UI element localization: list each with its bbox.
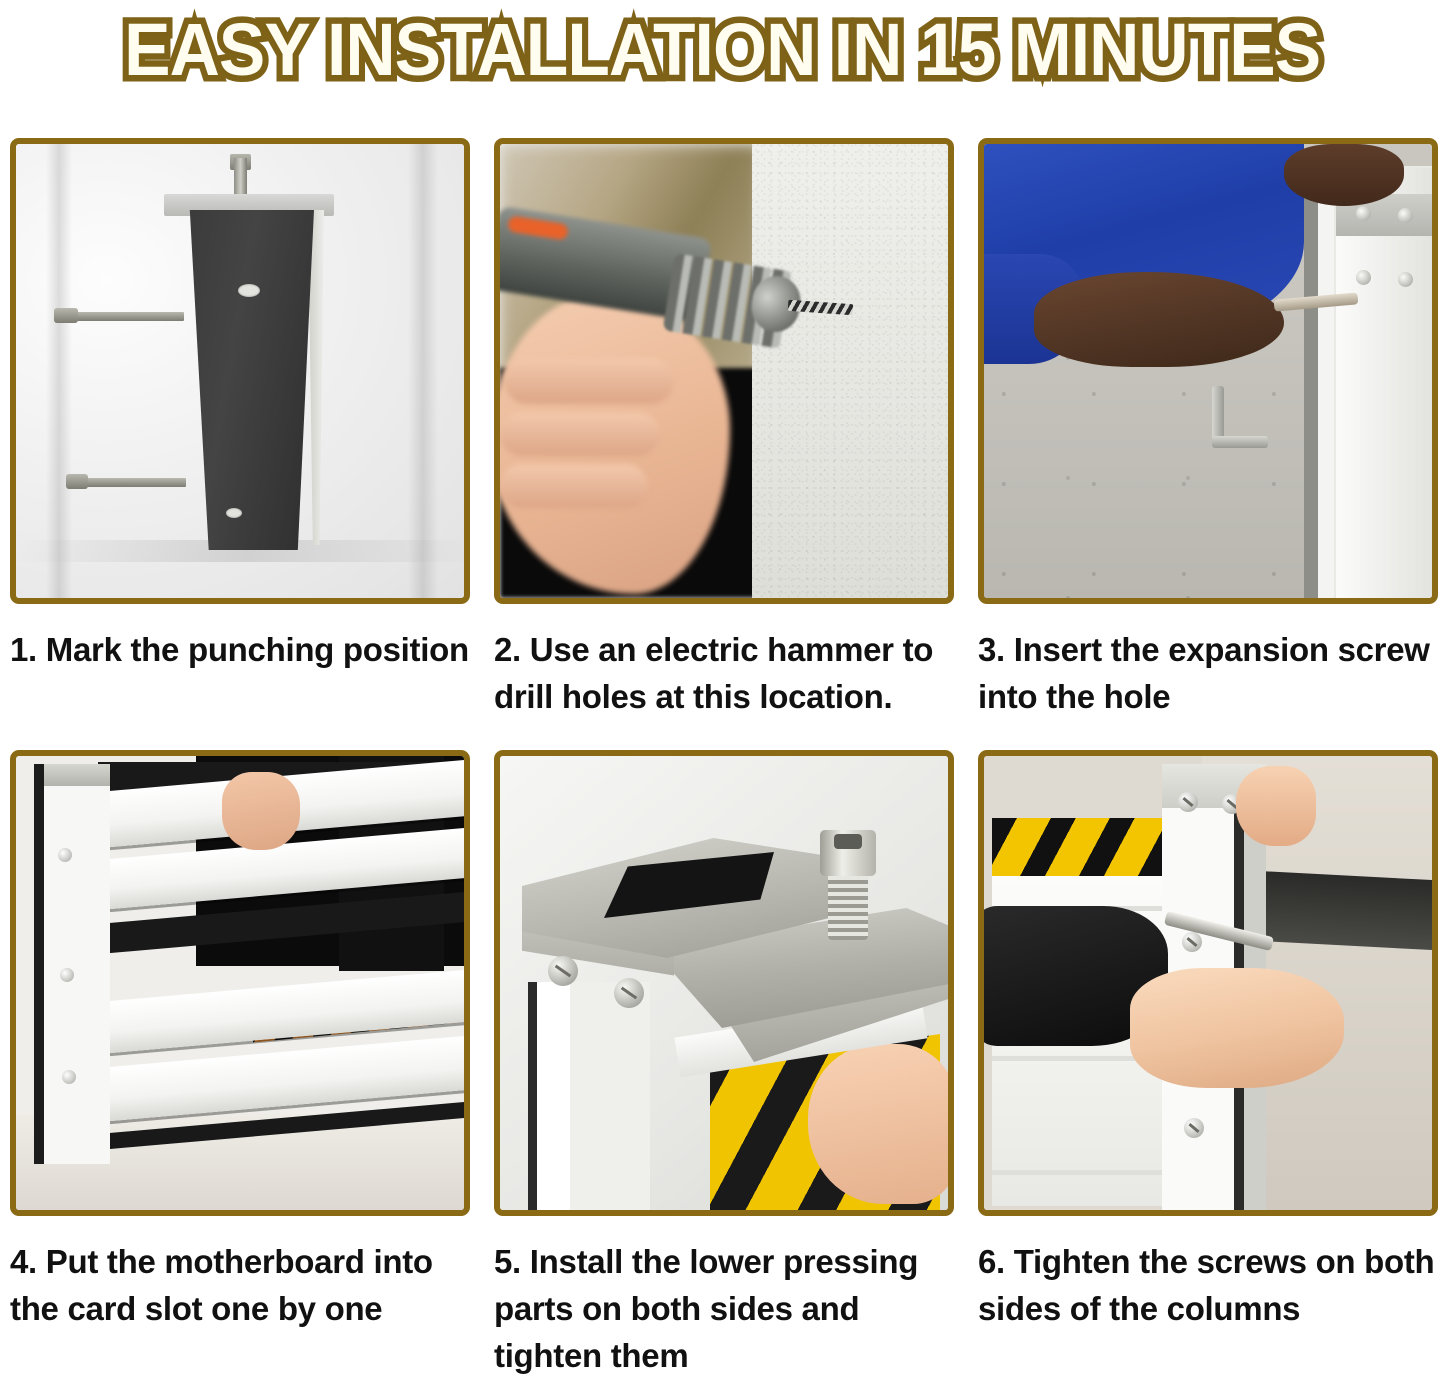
step-6-image-frame (978, 750, 1438, 1216)
step-card-4: 4. Put the motherboard into the card slo… (10, 750, 470, 1379)
step-2-drill-holes-photo (500, 144, 948, 598)
page-title: EASY INSTALLATION IN 15 MINUTES (124, 12, 1320, 88)
step-4-insert-boards-photo (16, 756, 464, 1210)
step-card-5: 5. Install the lower pressing parts on b… (494, 750, 954, 1379)
step-card-1: 1. Mark the punching position (10, 138, 470, 720)
step-2-caption: 2. Use an electric hammer to drill holes… (494, 626, 954, 720)
step-3-caption: 3. Insert the expansion screw into the h… (978, 626, 1438, 720)
step-1-mark-punching-position-photo (16, 144, 464, 598)
steps-grid: 1. Mark the punching position (10, 138, 1438, 1379)
installation-guide-page: EASY INSTALLATION IN 15 MINUTES (0, 0, 1445, 1352)
step-4-caption: 4. Put the motherboard into the card slo… (10, 1238, 470, 1332)
steps-row-top: 1. Mark the punching position (10, 138, 1438, 720)
steps-row-bottom: 4. Put the motherboard into the card slo… (10, 750, 1438, 1379)
step-1-caption: 1. Mark the punching position (10, 626, 470, 673)
step-5-image-frame (494, 750, 954, 1216)
step-6-caption: 6. Tighten the screws on both sides of t… (978, 1238, 1438, 1332)
step-1-image-frame (10, 138, 470, 604)
page-title-banner: EASY INSTALLATION IN 15 MINUTES (0, 0, 1445, 100)
step-card-2: 2. Use an electric hammer to drill holes… (494, 138, 954, 720)
step-3-insert-expansion-screw-photo (984, 144, 1432, 598)
row-spacer (10, 720, 1438, 750)
step-6-tighten-screws-photo (984, 756, 1432, 1210)
step-card-6: 6. Tighten the screws on both sides of t… (978, 750, 1438, 1379)
step-5-caption: 5. Install the lower pressing parts on b… (494, 1238, 954, 1379)
step-3-image-frame (978, 138, 1438, 604)
step-5-lower-pressing-parts-photo (500, 756, 948, 1210)
step-2-image-frame (494, 138, 954, 604)
step-card-3: 3. Insert the expansion screw into the h… (978, 138, 1438, 720)
step-4-image-frame (10, 750, 470, 1216)
